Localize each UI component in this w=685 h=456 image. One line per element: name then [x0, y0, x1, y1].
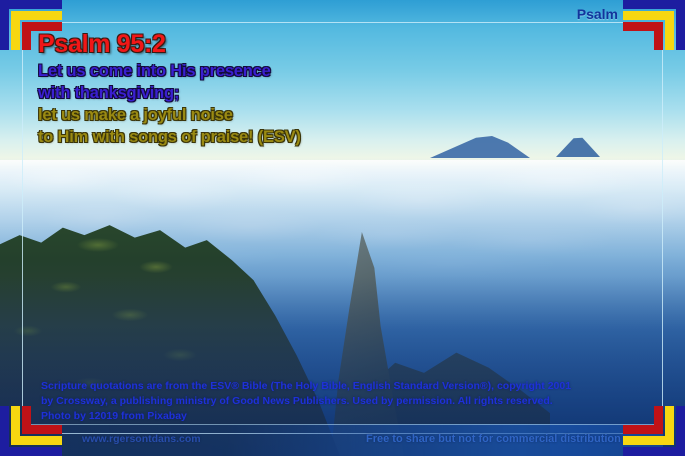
corner-bar-red-v [22, 406, 31, 434]
corner-bar-blue-h [0, 447, 62, 456]
corner-bar-red-v [654, 22, 663, 50]
verse-line-1: Let us come into His presence [38, 61, 418, 83]
credits-block: Scripture quotations are from the ESV® B… [41, 379, 641, 424]
scripture-slide: www.rgersontdans.com Free to share but n… [0, 0, 685, 456]
frame-line-top [22, 22, 663, 23]
verse-reference: Psalm 95:2 [38, 30, 418, 58]
verse-line-3: let us make a joyful noise [38, 105, 418, 127]
corner-bar-blue-v [0, 406, 9, 456]
corner-bar-yellow-v [11, 11, 20, 50]
corner-bar-blue-v [676, 0, 685, 50]
verse-block: Psalm 95:2 Let us come into His presence… [38, 30, 418, 149]
verse-line-2: with thanksgiving; [38, 83, 418, 105]
license-text: Free to share but not for commercial dis… [366, 433, 621, 445]
corner-bar-yellow-v [11, 406, 20, 445]
distant-mountain-peak-left [430, 136, 530, 158]
corner-bar-red-v [22, 22, 31, 50]
credits-line-3: Photo by 12019 from Pixabay [41, 409, 641, 424]
frame-line-right [662, 22, 663, 434]
site-url-text: www.rgersontdans.com [82, 433, 201, 445]
distant-mountain-peak-right [556, 137, 600, 157]
credits-line-1: Scripture quotations are from the ESV® B… [41, 379, 641, 394]
corner-decoration-top-right [623, 0, 685, 50]
credits-line-2: by Crossway, a publishing ministry of Go… [41, 394, 641, 409]
footer-bar: www.rgersontdans.com Free to share but n… [22, 424, 663, 456]
corner-bar-yellow-v [665, 11, 674, 50]
corner-bar-blue-v [676, 406, 685, 456]
book-label: Psalm [577, 6, 618, 22]
corner-bar-red-v [654, 406, 663, 434]
corner-bar-blue-v [0, 0, 9, 50]
corner-bar-yellow-v [665, 406, 674, 445]
verse-line-4: to Him with songs of praise! (ESV) [38, 127, 418, 149]
frame-line-left [22, 22, 23, 434]
corner-bar-blue-h [0, 0, 62, 9]
